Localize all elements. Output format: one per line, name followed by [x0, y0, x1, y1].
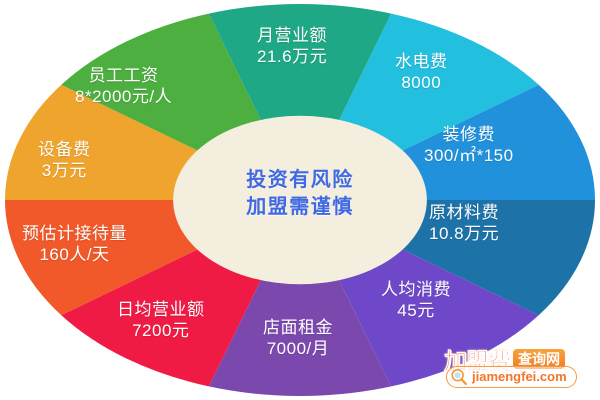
- watermark-domain-text: jiamengfei.com: [472, 369, 567, 385]
- watermark-domain-row: jiamengfei.com: [446, 366, 577, 388]
- site-watermark: 加盟费 查询网 jiamengfei.com: [444, 340, 596, 396]
- center-slogan: 投资有风险 加盟需谨慎: [220, 167, 380, 221]
- magnifier-icon: [450, 368, 468, 386]
